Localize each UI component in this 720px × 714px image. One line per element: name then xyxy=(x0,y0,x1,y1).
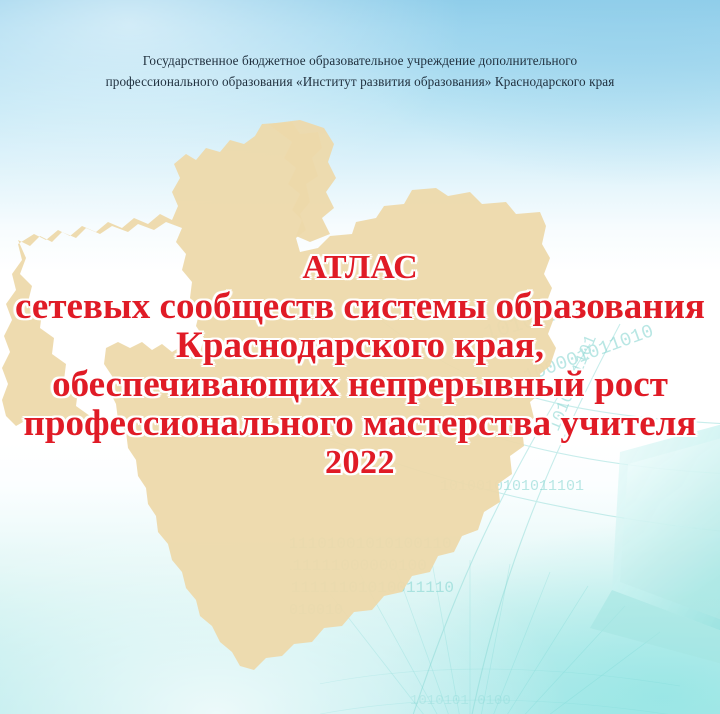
institution-header: Государственное бюджетное образовательно… xyxy=(0,50,720,93)
presentation-cover-slide: 1010010101011 100001011010 1010101101 10… xyxy=(0,0,720,714)
institution-header-line-2: профессионального образования «Институт … xyxy=(2,71,718,92)
title-line-year: 2022 xyxy=(0,443,720,482)
title-line-growth: обеспечивающих непрерывный рост xyxy=(0,365,720,404)
institution-header-line-1: Государственное бюджетное образовательно… xyxy=(2,50,718,71)
title-line-mastery: профессионального мастерства учителя xyxy=(0,404,720,443)
title-line-region: Краснодарского края, xyxy=(0,326,720,365)
title-line-subject: сетевых сообществ системы образования xyxy=(0,287,720,326)
cover-title-block: АТЛАС сетевых сообществ системы образова… xyxy=(0,248,720,482)
title-line-atlas: АТЛАС xyxy=(0,248,720,287)
